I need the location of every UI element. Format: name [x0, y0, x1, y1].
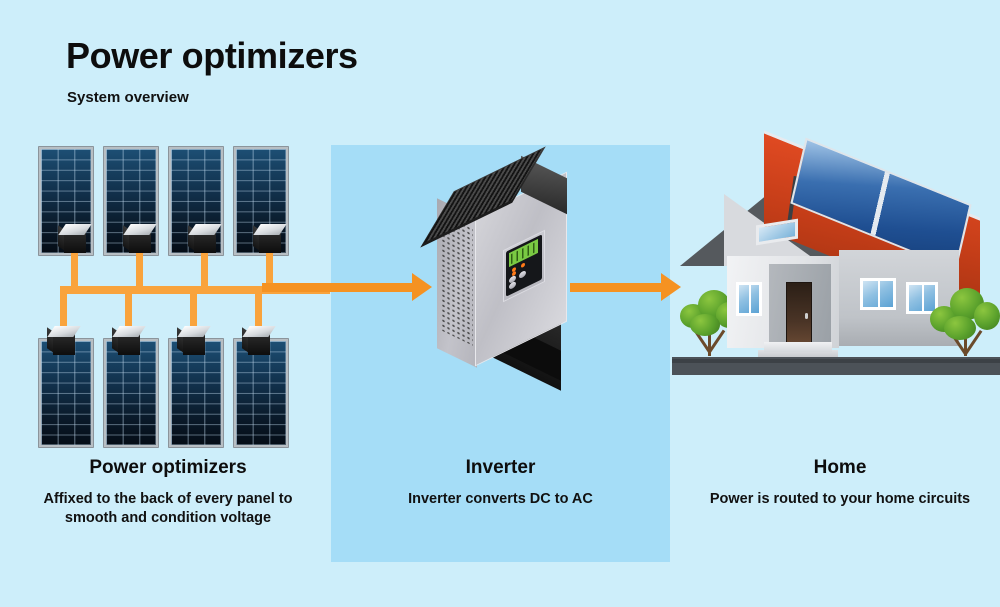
tree-icon: [930, 288, 1000, 356]
optimizer-cable: [71, 250, 78, 290]
page-title: Power optimizers: [66, 38, 358, 74]
optimizer-cable: [136, 250, 143, 290]
panel-cells: [236, 341, 286, 445]
optimizer-top: [188, 224, 221, 235]
house-icon: [672, 160, 1000, 375]
optimizer-face: [248, 334, 270, 355]
panel-cells: [171, 341, 221, 445]
optimizer-box-icon: [47, 326, 81, 356]
caption-power-optimizers: Power optimizers Affixed to the back of …: [18, 458, 318, 529]
optimizer-face: [53, 334, 75, 355]
caption-body: Affixed to the back of every panel to sm…: [18, 490, 318, 529]
optimizer-box-icon: [242, 326, 276, 356]
caption-title: Home: [700, 458, 980, 479]
inverter-icon: [425, 172, 590, 392]
optimizer-top: [177, 326, 210, 337]
porch-step-upper: [764, 342, 832, 352]
caption-body: Inverter converts DC to AC: [350, 490, 651, 510]
front-door[interactable]: [786, 282, 812, 348]
tree-foliage: [944, 316, 976, 340]
flow-arrow-2-shaft: [570, 283, 662, 292]
optimizer-face: [118, 334, 140, 355]
optimizer-top: [58, 224, 91, 235]
panel-cells: [41, 341, 91, 445]
ground-line: [672, 359, 1000, 363]
flow-arrow-1-shaft: [262, 283, 412, 292]
caption-home: Home Power is routed to your home circui…: [700, 458, 980, 509]
window-front: [736, 282, 762, 316]
tree-foliage: [974, 302, 1000, 330]
optimizer-top: [123, 224, 156, 235]
optimizer-face: [129, 232, 151, 253]
optimizer-box-icon: [123, 224, 157, 254]
optimizer-box-icon: [253, 224, 287, 254]
status-led: [521, 262, 525, 268]
optimizer-face: [194, 232, 216, 253]
optimizer-box-icon: [112, 326, 146, 356]
optimizer-face: [183, 334, 205, 355]
optimizer-box-icon: [188, 224, 222, 254]
caption-title: Inverter: [350, 458, 651, 479]
optimizer-face: [259, 232, 281, 253]
optimizer-box-icon: [177, 326, 211, 356]
caption-inverter: Inverter Inverter converts DC to AC: [350, 458, 651, 509]
window-side-1: [860, 278, 896, 310]
caption-body: Power is routed to your home circuits: [700, 490, 980, 510]
optimizer-cable: [201, 250, 208, 290]
optimizer-top: [242, 326, 275, 337]
optimizer-box-icon: [58, 224, 92, 254]
page-subtitle: System overview: [67, 90, 189, 105]
optimizer-top: [47, 326, 80, 337]
tree-foliage: [690, 314, 720, 336]
caption-title: Power optimizers: [18, 458, 318, 479]
optimizer-top: [112, 326, 145, 337]
optimizer-top: [253, 224, 286, 235]
optimizer-face: [64, 232, 86, 253]
panel-cells: [106, 341, 156, 445]
diagram-canvas: Power optimizers System overview: [0, 0, 1000, 607]
